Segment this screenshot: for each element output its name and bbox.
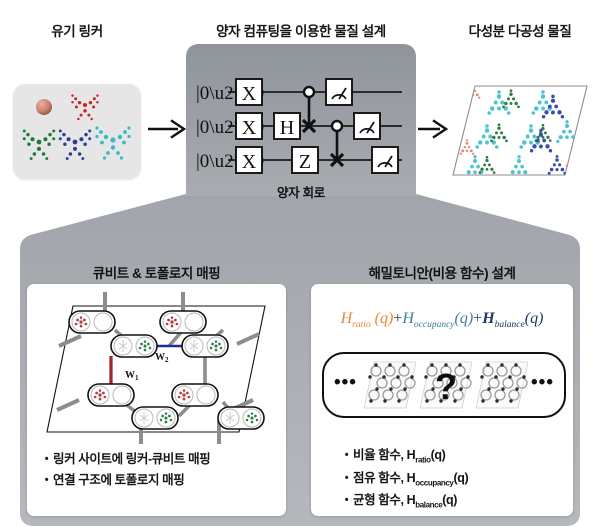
control-dot-1 (304, 87, 314, 97)
bullet-dot: • (40, 452, 53, 467)
candidate-tile-1 (364, 362, 416, 408)
qubit-topology-bullets: • 링커 사이트에 링커-큐비트 매핑 • 연결 구조에 토폴로지 매핑 (40, 452, 210, 493)
lattice-node (69, 311, 115, 333)
list-item: • 비율 함수, Hratio(q) (340, 448, 468, 466)
svg-text:Z: Z (299, 151, 311, 173)
bullet-text: 균형 함수, Hbalance(q) (353, 493, 457, 511)
candidate-tile-3 (476, 362, 528, 408)
organic-linker-panel (13, 84, 141, 179)
lattice-node (182, 335, 228, 357)
unknown-marker: ? (435, 366, 457, 407)
linker-red (71, 94, 98, 120)
title-porous-material: 다성분 다공성 물질 (447, 20, 593, 40)
list-item: • 연결 구조에 토폴로지 매핑 (40, 473, 210, 489)
term-h-balance: Hbalance(q) (482, 310, 543, 327)
linker-molecules (13, 84, 141, 179)
circuit-caption: 양자 회로 (196, 182, 406, 201)
bullet-dot: • (340, 448, 353, 463)
lattice-node (160, 311, 206, 333)
svg-text:X: X (242, 117, 257, 139)
bullet-text: 연결 구조에 토폴로지 매핑 (53, 473, 184, 489)
arrow-linker-to-circuit (146, 116, 190, 142)
control-dot-2 (332, 121, 342, 131)
candidate-tile-2: ? (420, 362, 472, 408)
lattice-node (111, 335, 157, 357)
hamiltonian-formula: Hratio (q)+Hoccupancy(q)+Hbalance(q) (311, 310, 573, 330)
measure-gate-0 (326, 79, 352, 105)
panel-header-hamiltonian: 해밀토니안(비용 함수) 설계 (311, 262, 573, 282)
linker-qubit-lattice: W1 W2 (33, 292, 281, 444)
bullet-dot: • (340, 471, 353, 486)
lattice-node (88, 384, 134, 406)
candidate-structures-box: ••• ••• ? (322, 352, 566, 418)
svg-text:X: X (242, 151, 257, 173)
trailing-dots: ••• (531, 372, 554, 394)
kagome-mof-lattice (447, 78, 593, 183)
quantum-circuit: |0\u27E9 |0\u27E9 |0\u27E9 XXX HZ (196, 74, 406, 179)
linker-blue (59, 129, 91, 160)
panel-header-qubit-topology: 큐비트 & 토폴로지 매핑 (27, 262, 286, 282)
linker-green (23, 129, 55, 160)
edge-label-w2: W2 (155, 352, 169, 364)
list-item: • 점유 함수, Hoccupancy(q) (340, 471, 468, 489)
hamiltonian-bullets: • 비율 함수, Hratio(q) • 점유 함수, Hoccupancy(q… (340, 448, 468, 516)
formula-operator-1: + (393, 310, 402, 327)
bullet-text: 링커 사이트에 링커-큐비트 매핑 (53, 452, 210, 468)
bullet-text: 점유 함수, Hoccupancy(q) (353, 471, 468, 489)
term-h-ratio: Hratio (q) (341, 310, 394, 327)
lattice-node (172, 384, 218, 406)
formula-operator-2: + (473, 310, 482, 327)
svg-text:X: X (242, 83, 257, 105)
candidate-tiles: ? (362, 360, 528, 410)
bullet-dot: • (340, 493, 353, 508)
metal-node-sphere (36, 99, 52, 115)
measure-gate-2 (372, 147, 398, 173)
list-item: • 링커 사이트에 링커-큐비트 매핑 (40, 452, 210, 468)
lattice-node (218, 407, 264, 429)
list-item: • 균형 함수, Hbalance(q) (340, 493, 468, 511)
measure-gate-1 (354, 113, 380, 139)
lattice-node (132, 407, 178, 429)
linker-cyan (95, 126, 130, 159)
bullet-text: 비율 함수, Hratio(q) (353, 448, 445, 466)
title-organic-linker: 유기 링커 (13, 20, 141, 40)
edge-label-w1: W1 (125, 370, 139, 382)
title-quantum-material-design: 양자 컴퓨팅을 이용한 물질 설계 (176, 20, 426, 40)
svg-text:H: H (280, 117, 294, 139)
leading-dots: ••• (334, 372, 357, 394)
term-h-occupancy: Hoccupancy(q) (402, 310, 473, 327)
bullet-dot: • (40, 473, 53, 488)
